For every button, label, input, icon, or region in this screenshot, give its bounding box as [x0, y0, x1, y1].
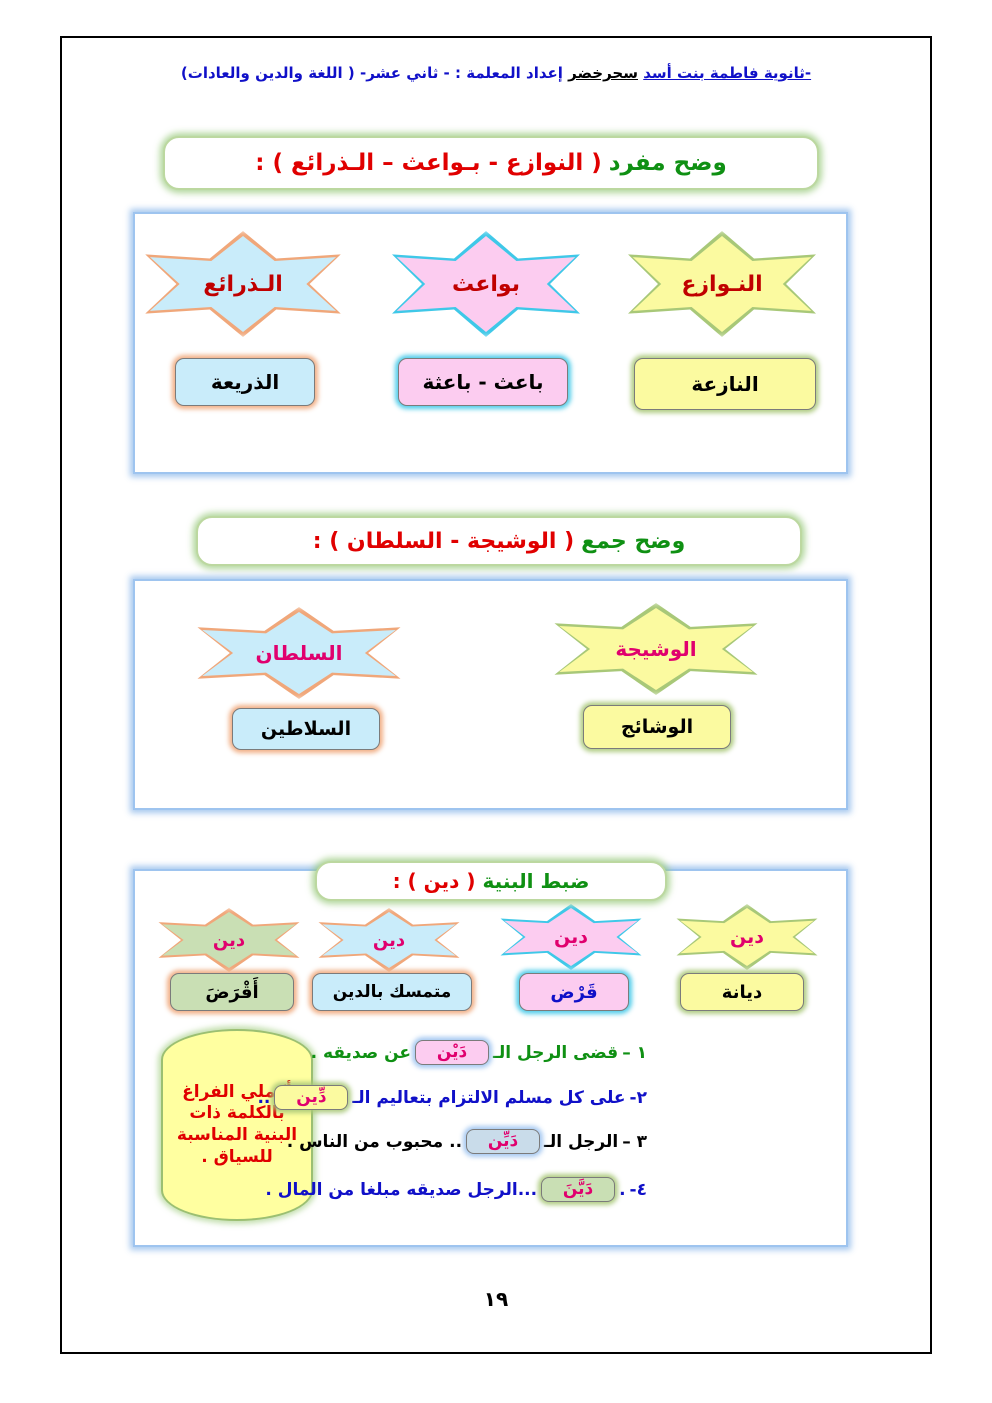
header-school: -ثانوية فاطمة بنت أسد — [643, 64, 811, 82]
exercise-number: ١ – — [622, 1043, 647, 1063]
exercise-blank-chip[interactable]: دَيِّن — [466, 1129, 540, 1154]
section-1-star-3-wrap: النـوازع — [627, 236, 817, 332]
exercise-blank-chip[interactable]: دِّين — [274, 1085, 348, 1110]
exercise-text-after: .. محبوب من الناس . — [287, 1132, 462, 1152]
section-3-star-4-wrap: دين — [676, 908, 818, 966]
answer-label: ديانة — [722, 982, 762, 1003]
header-teacher-name: سحرخضر — [568, 64, 638, 82]
header-subject: ( اللغة والدين والعادات) — [181, 64, 355, 82]
section-2-star-1-wrap: السلطان — [196, 612, 402, 694]
answer-label: قَرْض — [550, 982, 597, 1003]
exercise-blank-text: دَيِّن — [488, 1133, 518, 1150]
exercise-blank-chip[interactable]: دَيَّنَ — [541, 1177, 615, 1202]
section-3-answer-3: قَرْض — [519, 973, 629, 1011]
section-3-answer-4: ديانة — [680, 973, 804, 1011]
exercise-number: ٢- — [630, 1088, 647, 1108]
exercise-row-1: ١ – قضى الرجل الـ دَيْن عن صديقه . — [311, 1040, 647, 1065]
star-label: دين — [554, 926, 588, 948]
answer-label: النازعة — [691, 372, 758, 396]
exercise-text-after: .. — [257, 1088, 270, 1108]
exercise-blank-text: دَيَّنَ — [563, 1181, 593, 1198]
answer-label: الذريعة — [211, 370, 279, 394]
section-1-star-1: الـذرائع — [144, 236, 342, 332]
answer-label: باعث - باعثة — [422, 370, 543, 394]
answer-label: السلاطين — [261, 718, 351, 740]
exercise-blank-text: دَيْن — [437, 1044, 467, 1061]
answer-label: أَقْرَضَ — [205, 982, 258, 1003]
section-2-title-words: ( الوشيجة - السلطان ) : — [313, 529, 574, 554]
section-3-answer-2: متمسك بالدين — [312, 973, 472, 1011]
answer-label: متمسك بالدين — [333, 982, 452, 1002]
star-label: بواعث — [452, 272, 520, 297]
section-3-star-1-wrap: دين — [158, 912, 300, 968]
exercise-blank-text: دِّين — [296, 1089, 326, 1106]
section-1-star-2: بواعث — [391, 236, 581, 332]
section-2-star-1: السلطان — [196, 612, 402, 694]
section-2-title-banner: وضح جمع ( الوشيجة - السلطان ) : — [196, 516, 802, 566]
star-label: النـوازع — [681, 272, 762, 297]
worksheet-page: -ثانوية فاطمة بنت أسد سحرخضر إعداد المعل… — [0, 0, 992, 1403]
section-3-star-3: دين — [500, 908, 642, 966]
section-3-star-2: دين — [318, 912, 460, 968]
section-2-title-main: وضح جمع — [581, 529, 685, 554]
page-header: -ثانوية فاطمة بنت أسد سحرخضر إعداد المعل… — [0, 64, 992, 82]
section-3-title-main: ضبط البنية — [483, 869, 590, 893]
exercise-text-before: الرجل الـ — [544, 1132, 618, 1152]
section-1-title-words: ( النوازع - بـواعث – الـذرائع ) : — [255, 150, 601, 176]
exercise-text-before: على كل مسلم الالتزام بتعاليم الـ — [352, 1088, 625, 1108]
exercise-number: ٣ – — [622, 1132, 647, 1152]
section-2-star-2: الوشيجة — [553, 608, 759, 690]
answer-label: الوشائج — [621, 716, 693, 738]
star-label: الـذرائع — [203, 272, 283, 297]
section-3-answer-1: أَقْرَضَ — [170, 973, 294, 1011]
section-1-star-3: النـوازع — [627, 236, 817, 332]
header-grade: - ثاني عشر- — [360, 64, 450, 82]
exercise-text-before: قضى الرجل الـ — [493, 1043, 618, 1063]
section-1-answer-1: الذريعة — [175, 358, 315, 406]
exercise-text-after: ...الرجل صديقه مبلغا من المال . — [265, 1180, 537, 1200]
star-label: دين — [373, 930, 405, 951]
star-label: الوشيجة — [615, 637, 696, 661]
star-label: دين — [213, 930, 245, 951]
page-number: ١٩ — [0, 1287, 992, 1311]
header-prepared-label: إعداد المعلمة : — [455, 64, 563, 82]
section-3-title-banner: ضبط البنية ( دين ) : — [315, 861, 667, 901]
section-3-star-1: دين — [158, 912, 300, 968]
exercise-text-before: . — [619, 1180, 625, 1200]
exercise-blank-chip[interactable]: دَيْن — [415, 1040, 489, 1065]
exercise-text-after: عن صديقه . — [311, 1043, 411, 1063]
exercise-row-3: ٣ – الرجل الـ دَيِّن .. محبوب من الناس . — [287, 1129, 647, 1154]
section-1-title-banner: وضح مفرد ( النوازع - بـواعث – الـذرائع )… — [163, 136, 819, 190]
section-2-answer-1: السلاطين — [232, 708, 380, 750]
star-label: السلطان — [256, 641, 343, 665]
section-3-title-words: ( دين ) : — [393, 869, 476, 893]
exercise-number: ٤- — [630, 1180, 647, 1200]
section-2-answer-2: الوشائج — [583, 705, 731, 749]
section-3-star-4: دين — [676, 908, 818, 966]
section-1-star-2-wrap: بواعث — [391, 236, 581, 332]
section-1-title-main: وضح مفرد — [609, 150, 727, 176]
section-1-answer-2: باعث - باعثة — [398, 358, 568, 406]
star-label: دين — [730, 926, 764, 948]
exercise-row-2: ٢- على كل مسلم الالتزام بتعاليم الـ دِّي… — [257, 1085, 647, 1110]
section-1-star-1-wrap: الـذرائع — [144, 236, 342, 332]
section-1-answer-3: النازعة — [634, 358, 816, 410]
exercise-row-4: ٤- . دَيَّنَ ...الرجل صديقه مبلغا من الم… — [265, 1177, 647, 1202]
section-2-star-2-wrap: الوشيجة — [553, 608, 759, 690]
section-3-star-3-wrap: دين — [500, 908, 642, 966]
section-3-star-2-wrap: دين — [318, 912, 460, 968]
